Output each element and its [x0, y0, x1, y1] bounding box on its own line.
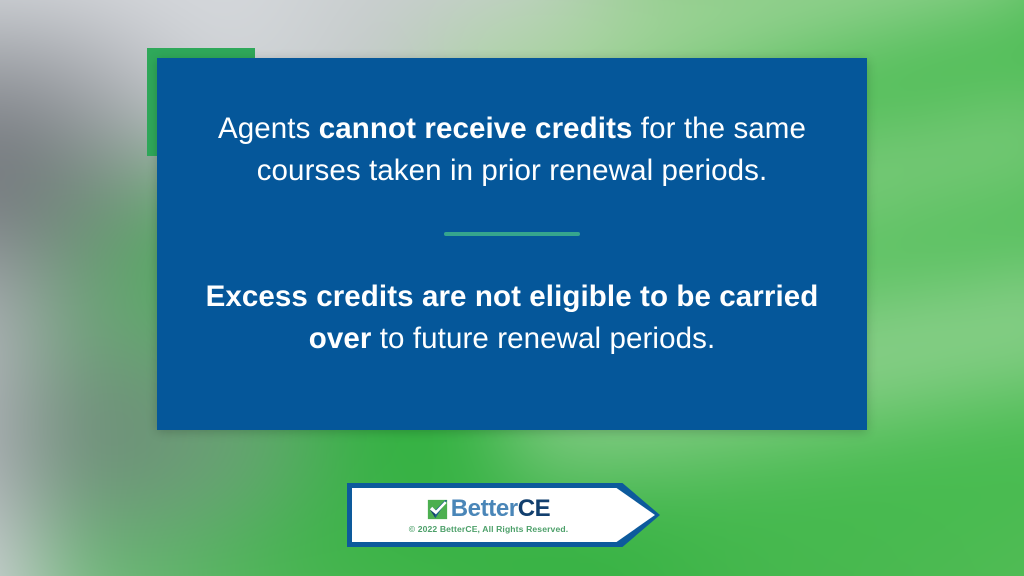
statement-paragraph-2: Excess credits are not eligible to be ca… — [201, 276, 823, 361]
brand-wordmark-better: Better — [451, 495, 518, 522]
slide-root: Agents cannot receive credits for the sa… — [0, 0, 1024, 576]
statement-1-emphasis: cannot receive credits — [319, 112, 633, 145]
section-divider — [444, 232, 580, 236]
statement-card: Agents cannot receive credits for the sa… — [157, 58, 867, 430]
brand-wordmark-ce: CE — [518, 495, 551, 522]
divider-wrapper — [201, 232, 823, 236]
brand-wordmark: BetterCE — [451, 497, 551, 521]
statement-1-prefix: Agents — [218, 112, 319, 145]
statement-2-suffix: to future renewal periods. — [371, 322, 715, 355]
statement-paragraph-1: Agents cannot receive credits for the sa… — [201, 108, 823, 193]
logo-ribbon: BetterCE © 2022 BetterCE, All Rights Res… — [347, 483, 660, 547]
copyright-text: © 2022 BetterCE, All Rights Reserved. — [409, 525, 568, 534]
checkbox-check-icon — [427, 499, 448, 520]
brand-logo: BetterCE — [427, 497, 551, 521]
logo-ribbon-content: BetterCE © 2022 BetterCE, All Rights Res… — [347, 483, 630, 547]
statement-card-content: Agents cannot receive credits for the sa… — [201, 108, 823, 361]
